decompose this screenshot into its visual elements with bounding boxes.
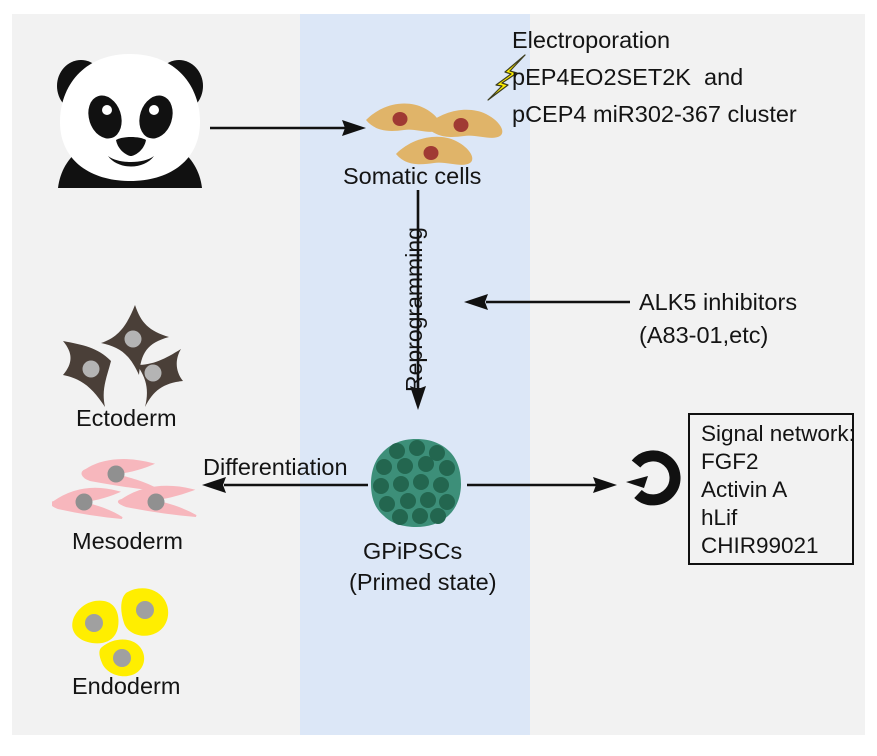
electroporation-line1: Electroporation: [512, 26, 670, 55]
electroporation-line2: pEP4EO2SET2K and: [512, 63, 743, 92]
mesoderm-illustration: [52, 450, 202, 528]
differentiation-label: Differentiation: [203, 453, 348, 482]
figure-root: Somatic cells Electroporation pEP4EO2SET…: [0, 0, 877, 756]
signal-network-item-1: Activin A: [701, 477, 787, 503]
signal-network-heading: Signal network:: [701, 421, 855, 447]
signal-network-item-3: CHIR99021: [701, 533, 819, 559]
gpipsc-colony-illustration: [369, 437, 463, 529]
reprogramming-label: Reprogramming: [400, 227, 428, 392]
endoderm-label: Endoderm: [72, 672, 180, 701]
gpipsc-sublabel: (Primed state): [349, 568, 497, 597]
self-renewal-loop-icon: [622, 448, 684, 514]
gpipsc-label: GPiPSCs: [363, 537, 462, 566]
ectoderm-illustration: [57, 303, 187, 408]
panda-to-somatic-arrow: [208, 116, 368, 140]
somatic-cells-label: Somatic cells: [343, 162, 481, 191]
alk5-inhibitors-line1: ALK5 inhibitors: [639, 288, 797, 317]
ectoderm-label: Ectoderm: [76, 404, 177, 433]
signal-network-box: Signal network: FGF2 Activin A hLif CHIR…: [688, 413, 854, 565]
endoderm-illustration: [62, 585, 182, 677]
alk5-arrow: [462, 290, 630, 314]
alk5-inhibitors-line2: (A83-01,etc): [639, 321, 768, 350]
electroporation-line3: pCEP4 miR302-367 cluster: [512, 100, 797, 129]
signal-network-item-0: FGF2: [701, 449, 759, 475]
somatic-cells-illustration: [360, 92, 510, 172]
signal-network-item-2: hLif: [701, 505, 737, 531]
mesoderm-label: Mesoderm: [72, 527, 183, 556]
giant-panda-illustration: [48, 38, 213, 193]
ipsc-to-signal-arrow: [467, 473, 619, 497]
